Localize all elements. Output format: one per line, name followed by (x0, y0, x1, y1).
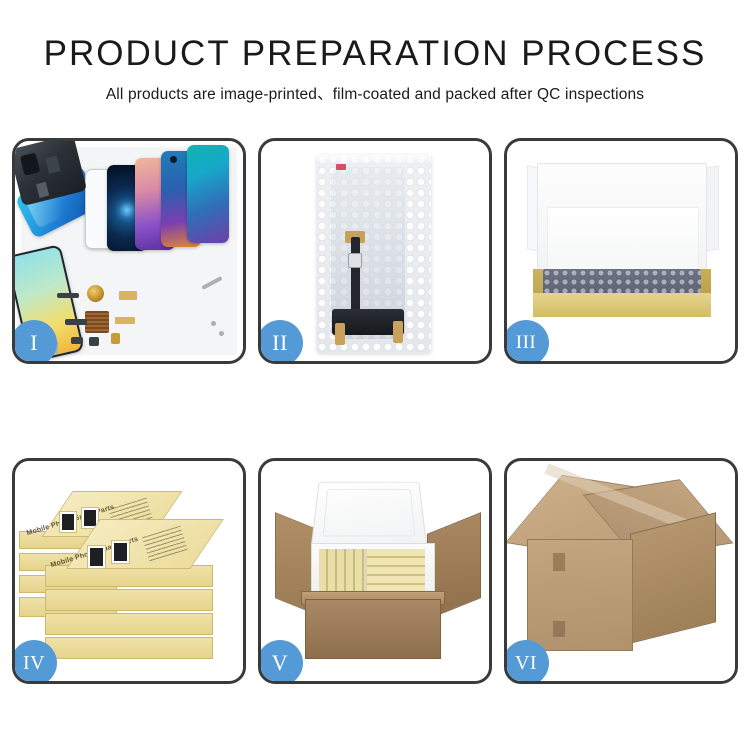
power-button-flex-part (65, 319, 87, 325)
speaker-coil-part (87, 285, 104, 302)
carton-side-panel (630, 512, 716, 643)
step-badge-4: IV (12, 640, 57, 684)
flex-cable-part-b (115, 317, 135, 324)
tray-front-face (533, 293, 711, 317)
process-step-panel-6[interactable]: VI (504, 458, 738, 684)
kraft-box-window-front-a (87, 545, 106, 569)
carton-notch-lower (553, 621, 565, 637)
step-badge-5: V (258, 640, 303, 684)
step-badge-3: III (504, 320, 549, 364)
kraft-box-layer-r3 (45, 613, 213, 635)
battery-connector-part (111, 333, 120, 344)
kraft-box-layer-r2 (45, 589, 213, 611)
kraft-box-layer-r4 (45, 637, 213, 659)
earpiece-mesh-part (57, 293, 79, 298)
kraft-boxes-row-left (319, 549, 365, 597)
carton-front-face (527, 539, 633, 651)
flex-cable-part-a (119, 291, 137, 300)
process-step-grid: I II (12, 138, 738, 684)
page-subtitle: All products are image-printed、film-coat… (0, 73, 750, 104)
process-step-panel-5[interactable]: V (258, 458, 492, 684)
vibrator-part (71, 337, 83, 344)
bubble-wrap-sleeve (317, 155, 431, 353)
gold-contact-right (393, 321, 403, 343)
header: PRODUCT PREPARATION PROCESS All products… (0, 0, 750, 104)
qc-sticker (336, 164, 346, 170)
process-step-panel-2[interactable]: II (258, 138, 492, 364)
step-badge-1: I (12, 320, 57, 364)
process-step-panel-3[interactable]: III (504, 138, 738, 364)
kraft-boxes-row-right (367, 549, 425, 597)
styrofoam-lid (311, 482, 427, 547)
screw-part-b (219, 331, 224, 336)
gold-contact-left (335, 323, 345, 345)
camera-module-part (89, 337, 99, 346)
product-preparation-infographic: PRODUCT PREPARATION PROCESS All products… (0, 0, 750, 750)
phone-screen-teal-wave (187, 145, 229, 243)
kraft-box-window-back-a (59, 511, 77, 533)
ic-chip-part (85, 311, 109, 333)
screw-part-a (211, 321, 216, 326)
kraft-box-window-front-b (111, 540, 130, 564)
packed-kraft-boxes (319, 549, 425, 597)
foam-sheet (547, 207, 699, 271)
process-step-panel-4[interactable]: Mobile Phone Spare Parts Mobile Phone Sp… (12, 458, 246, 684)
step-badge-6: VI (504, 640, 549, 684)
page-title: PRODUCT PREPARATION PROCESS (0, 0, 750, 73)
driver-ic (348, 253, 362, 268)
step-badge-2: II (258, 320, 303, 364)
carton-front-panel (305, 599, 441, 659)
carton-notch-upper (553, 553, 565, 571)
bubble-wrap-seal (317, 155, 431, 165)
process-step-panel-1[interactable]: I (12, 138, 246, 364)
